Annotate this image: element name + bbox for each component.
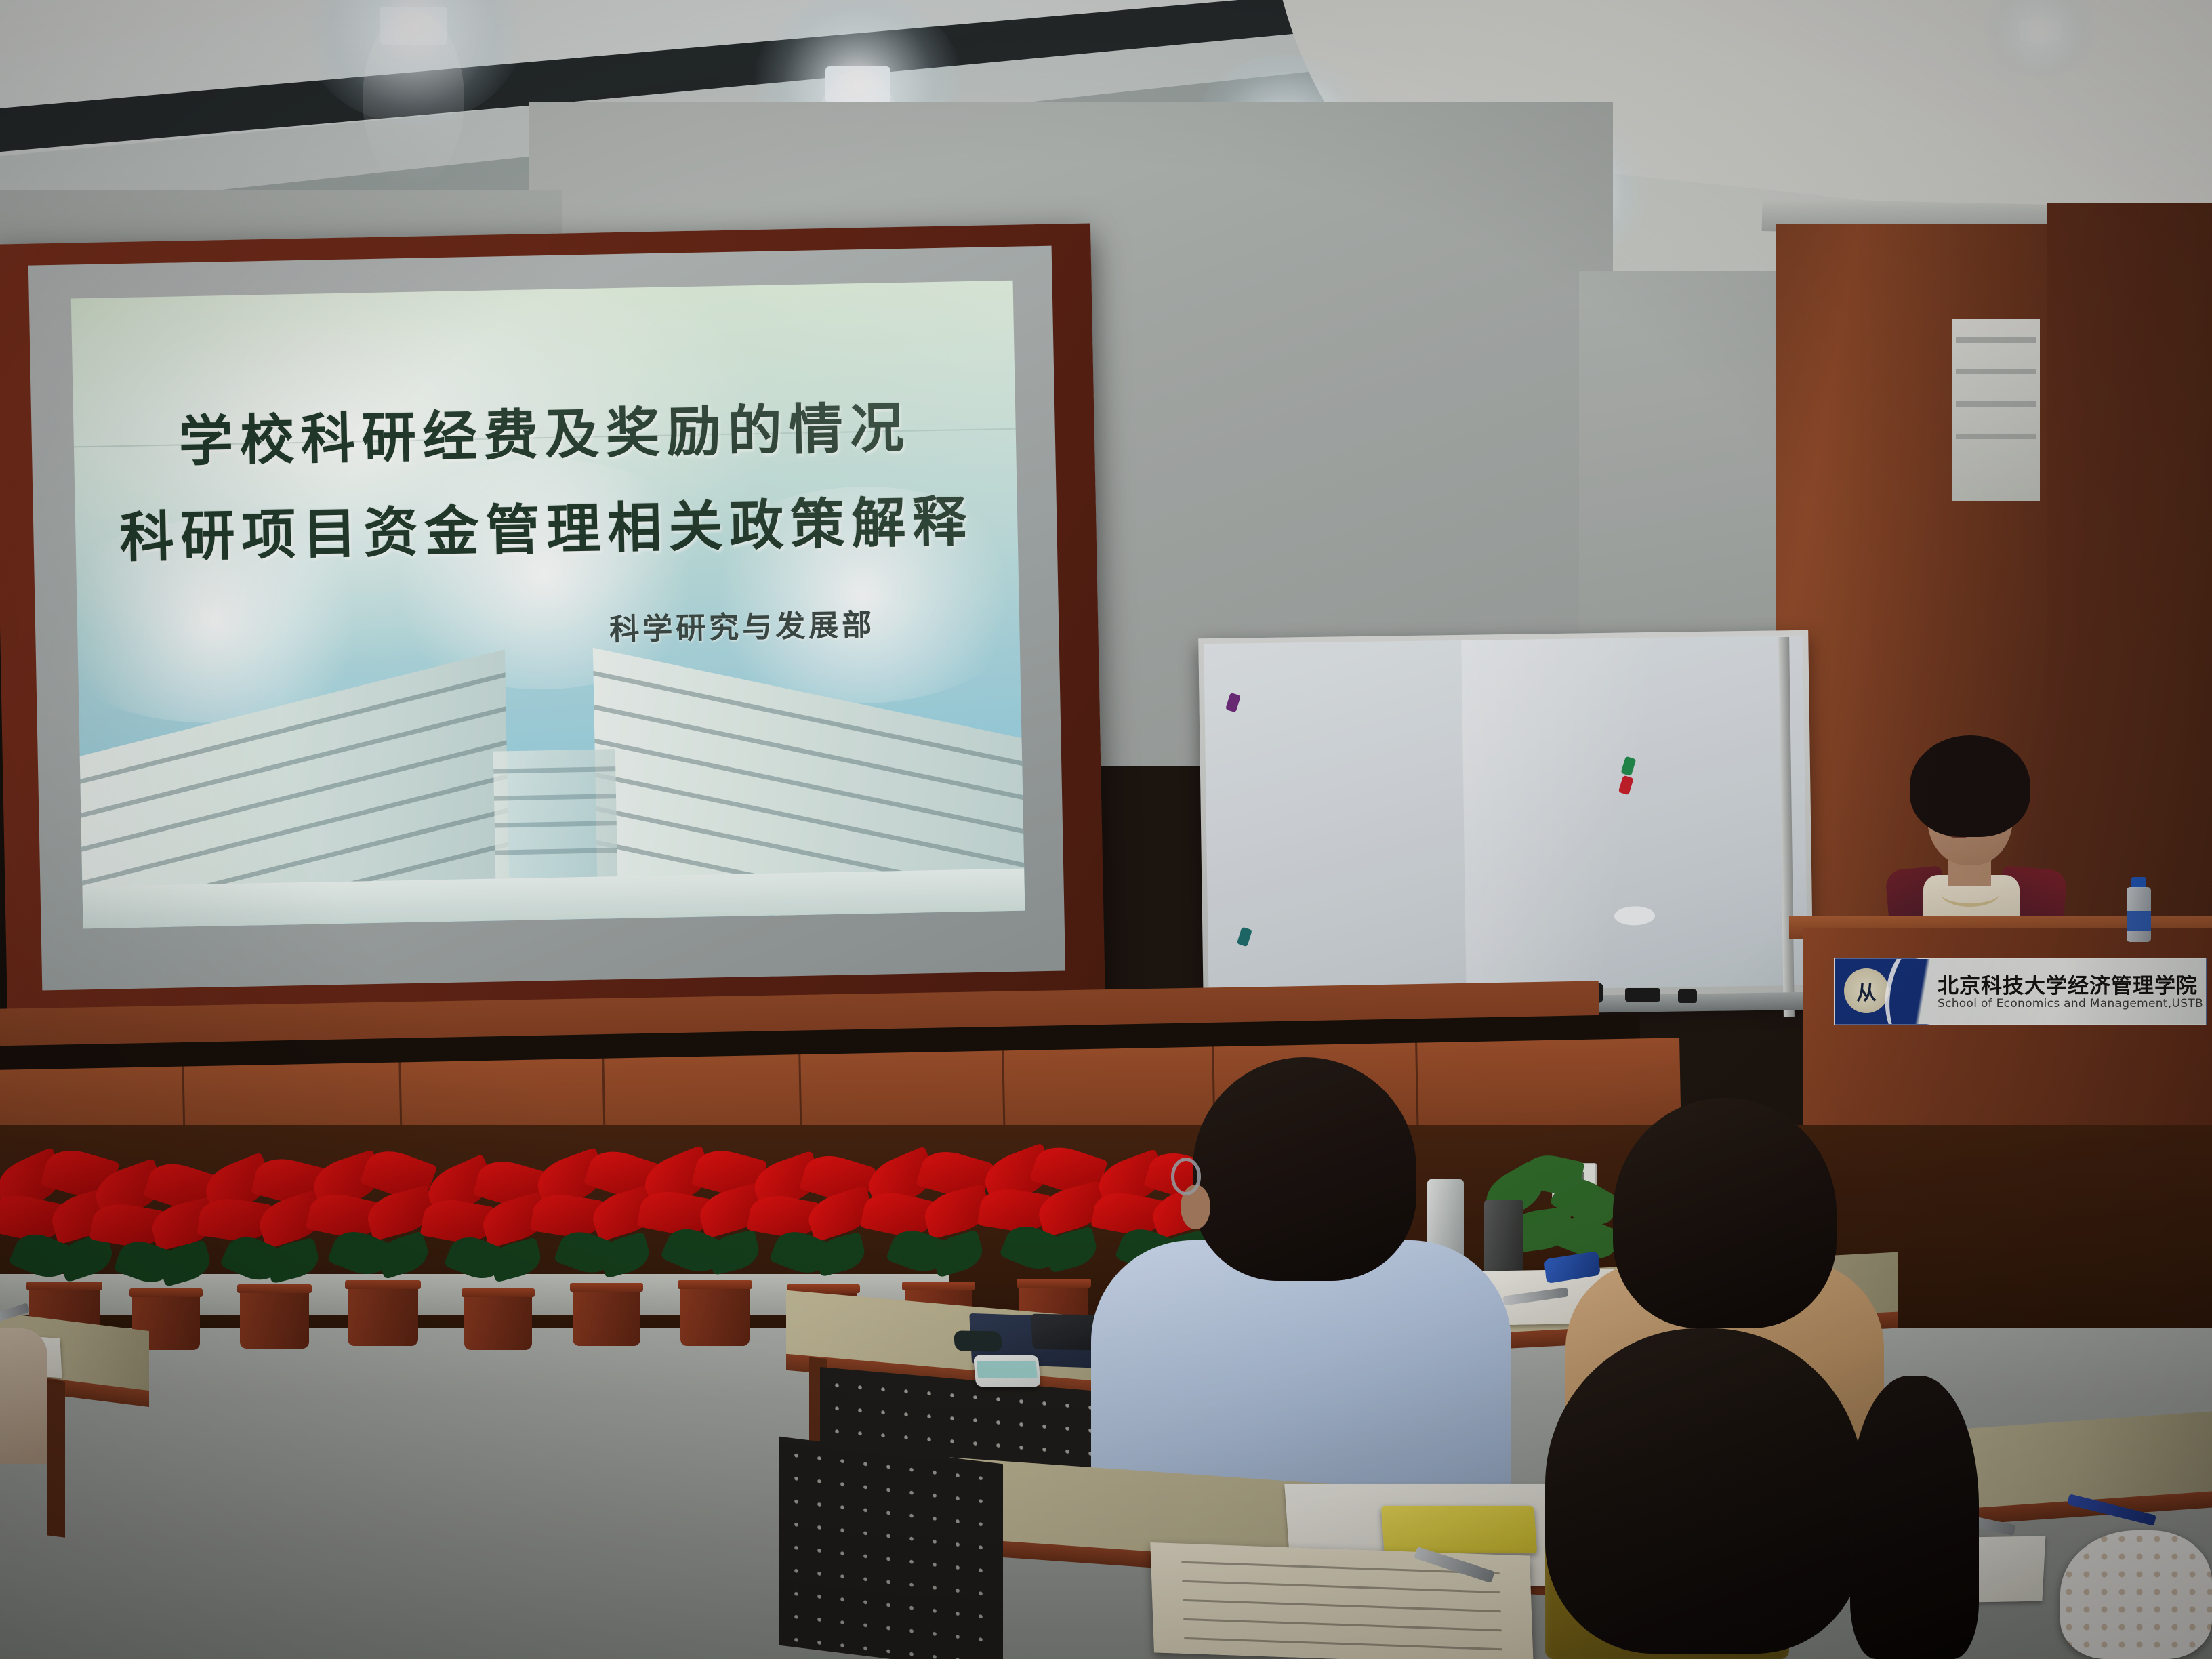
- presenter-person: [1877, 735, 2081, 939]
- attendee-sleeve: [0, 1328, 47, 1464]
- podium-banner-english: School of Economics and Management,USTB: [1938, 997, 2203, 1010]
- attendee-hair: [1193, 1057, 1416, 1281]
- smartphone-on-desk[interactable]: [973, 1355, 1041, 1387]
- attendee-dark-hair-woman-front: [1518, 1328, 1898, 1659]
- projection-screen-surround: 学校科研经费及奖励的情况 科研项目资金管理相关政策解释 科学研究与发展部: [28, 246, 1065, 991]
- silver-pen[interactable]: [0, 1303, 30, 1326]
- presenter-hair: [1910, 735, 2030, 837]
- lecture-hall-photo: 学校科研经费及奖励的情况 科研项目资金管理相关政策解释 科学研究与发展部: [0, 0, 2212, 1659]
- yellow-notepad[interactable]: [1381, 1506, 1537, 1553]
- podium-banner: 从 北京科技大学经济管理学院 School of Economics and M…: [1834, 958, 2207, 1025]
- ceiling-spotlight-8: [2020, 20, 2060, 41]
- whiteboard[interactable]: [1198, 630, 1814, 1010]
- attendee-front-left-partial: [0, 1288, 75, 1464]
- ceiling-spotlight-1: [380, 7, 447, 45]
- desk-modesty-panel-front: [779, 1437, 1003, 1659]
- attendee-hair: [1545, 1328, 1864, 1654]
- eyeglasses-on-desk[interactable]: [954, 1330, 1002, 1351]
- wall-recess-panel: [1952, 319, 2040, 501]
- bottle-label: [2127, 911, 2151, 931]
- attendee-lace-sleeve-person: [2060, 1530, 2212, 1659]
- water-bottle[interactable]: [2125, 877, 2152, 942]
- eyeglasses-icon: [1171, 1158, 1201, 1195]
- magnet-teal[interactable]: [1237, 927, 1252, 947]
- screen-glare: [71, 281, 1025, 929]
- projection-screen-frame: 学校科研经费及奖励的情况 科研项目资金管理相关政策解释 科学研究与发展部: [0, 224, 1105, 1017]
- magnet-purple[interactable]: [1225, 693, 1241, 713]
- whiteboard-surface[interactable]: [1204, 636, 1807, 994]
- attendee-hair: [1850, 1376, 1979, 1659]
- whiteboard-sheen: [1461, 637, 1689, 990]
- projection-screen-canvas: 学校科研经费及奖励的情况 科研项目资金管理相关政策解释 科学研究与发展部: [71, 281, 1025, 929]
- attendee-hair: [1613, 1098, 1837, 1328]
- university-emblem-icon: 从: [1844, 968, 1889, 1013]
- podium-banner-chinese: 北京科技大学经济管理学院: [1938, 968, 2198, 999]
- emblem-glyph: 从: [1856, 976, 1877, 1006]
- ceiling-spotlight-2: [825, 66, 890, 103]
- perforation-pattern: [785, 1443, 998, 1659]
- open-notebook[interactable]: [1150, 1542, 1533, 1659]
- attendee-right-edge-dark: [1850, 1376, 1979, 1659]
